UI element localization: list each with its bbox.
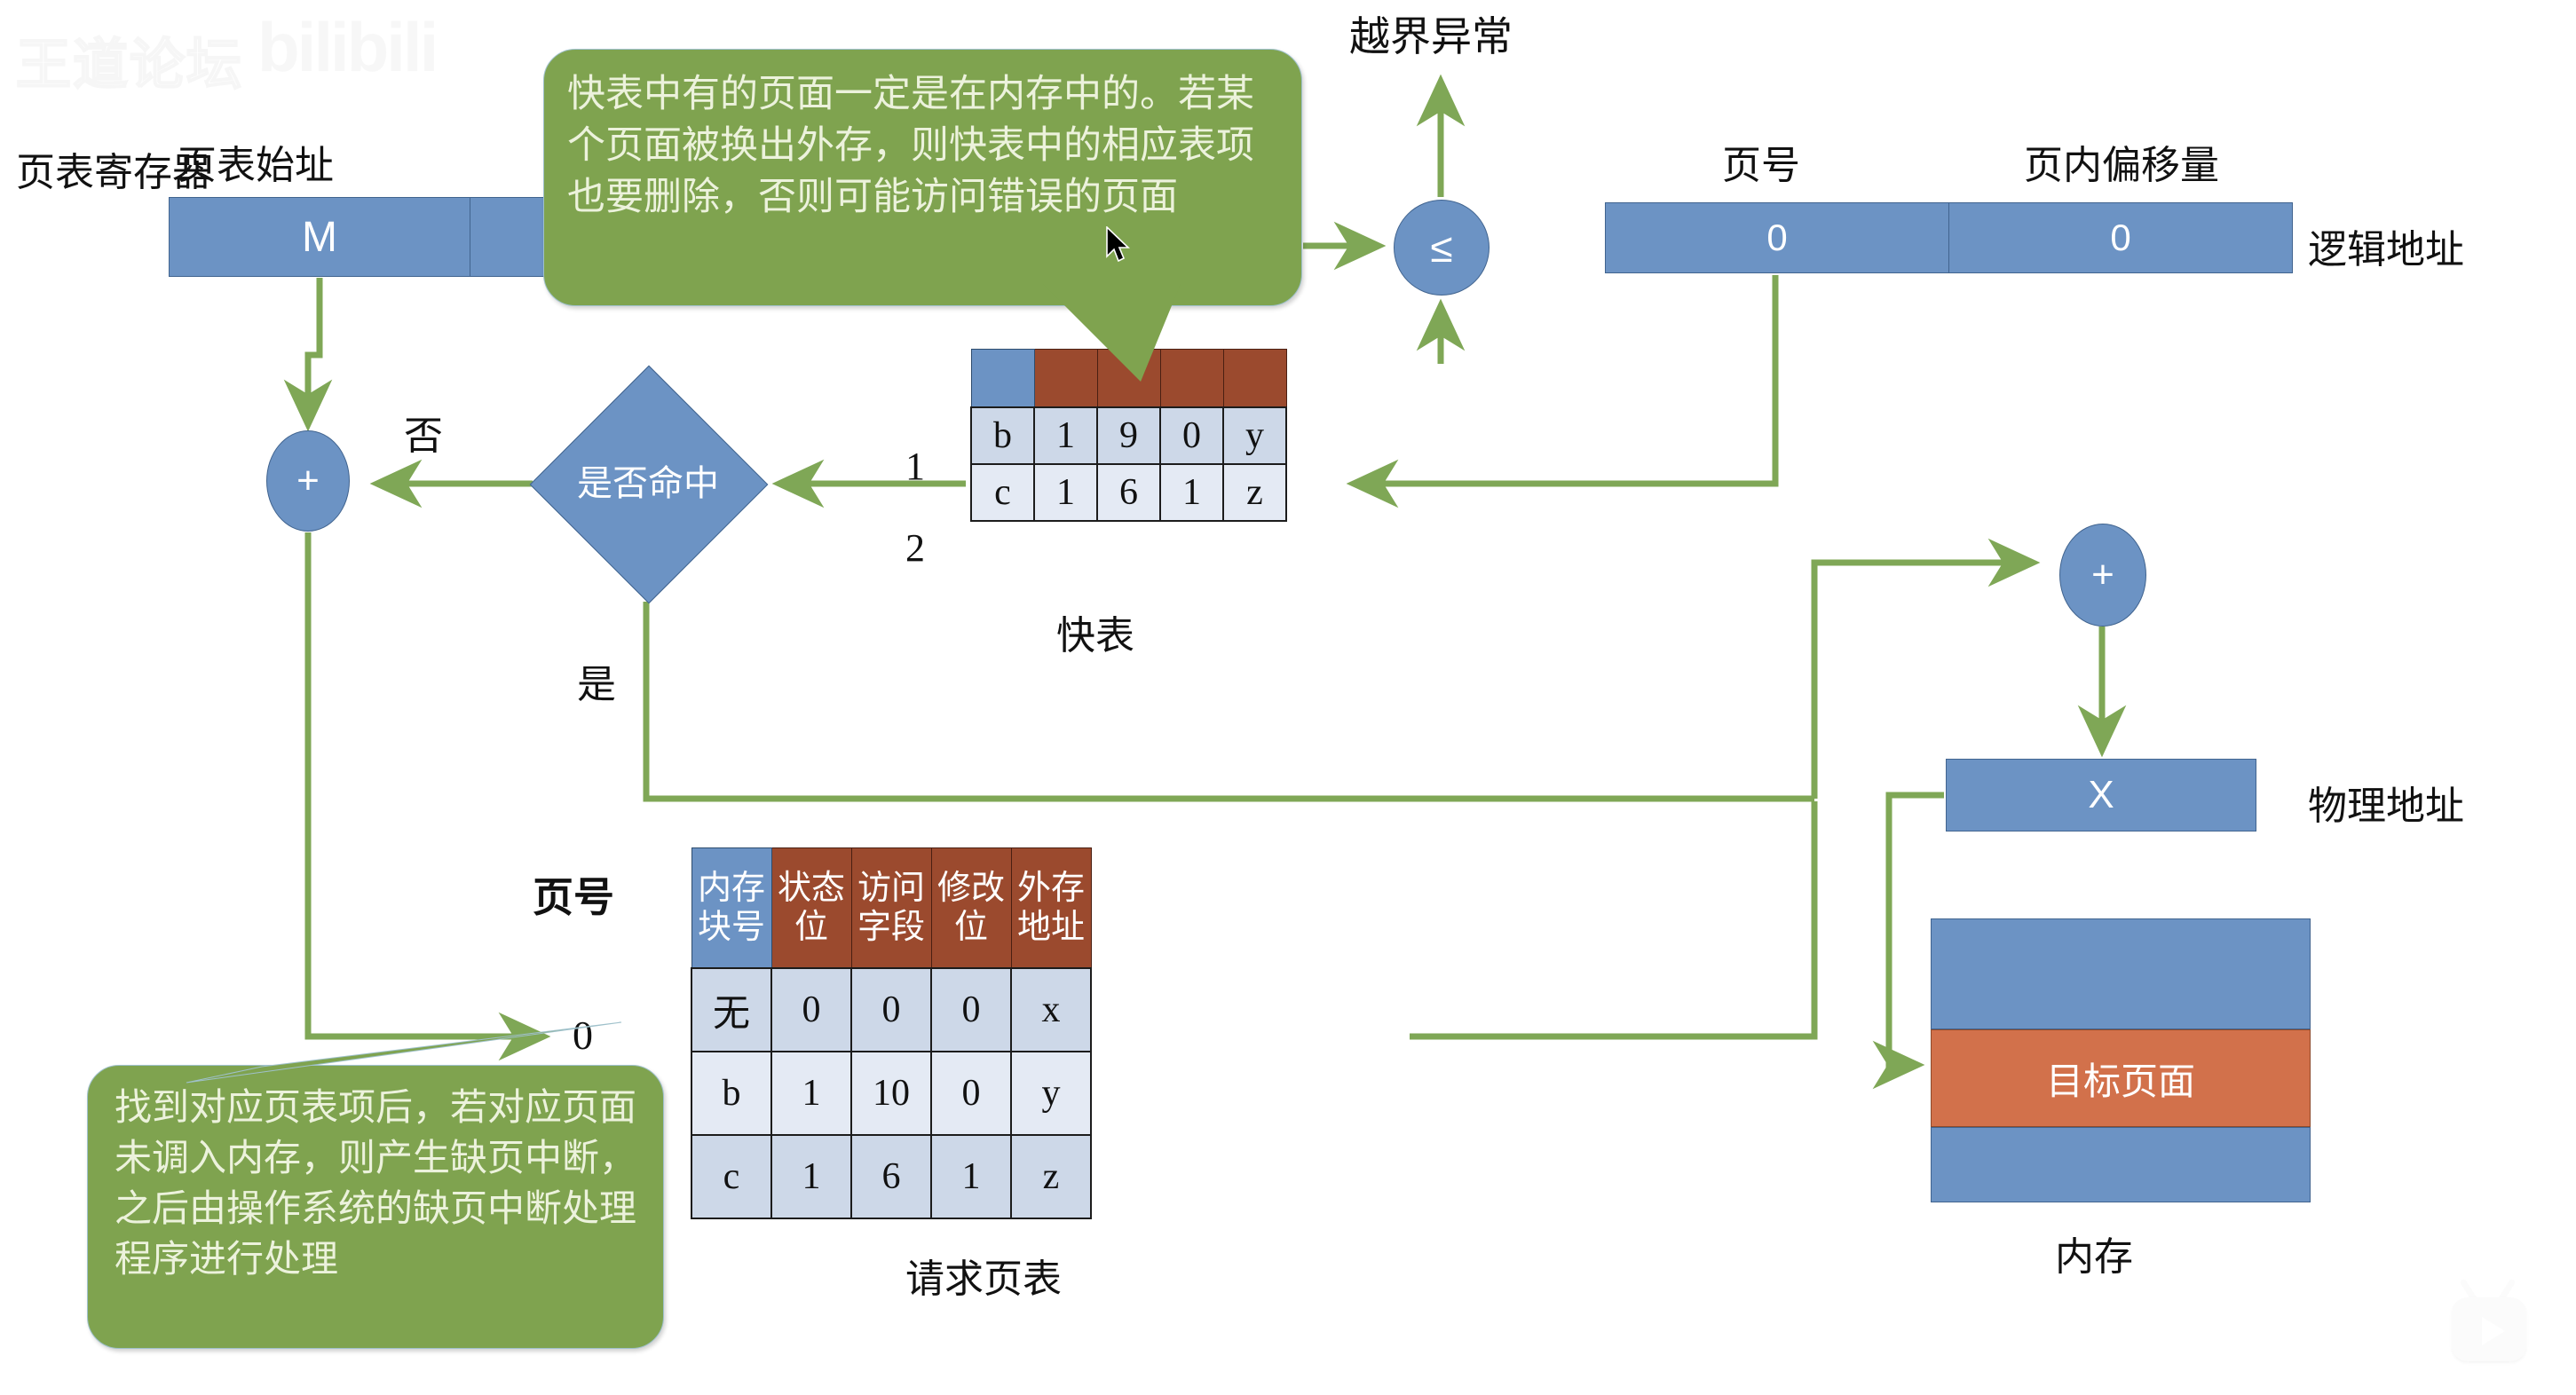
- page-table-cell: y: [1011, 1052, 1091, 1135]
- page-table-cell: 0: [771, 968, 851, 1052]
- callout-tlb-note: 快表中有的页面一定是在内存中的。若某个页面被换出外存，则快表中的相应表项也要删除…: [543, 49, 1302, 306]
- memory-block-lower: [1931, 1127, 2311, 1202]
- page-table-cell: 1: [771, 1052, 851, 1135]
- bilibili-tv-icon: [2439, 1276, 2539, 1370]
- decision-label: 是否命中: [537, 373, 759, 595]
- tlb-cell: 9: [1097, 407, 1160, 464]
- tlb-cell: 1: [1034, 464, 1097, 521]
- tlb-cell: 1: [1034, 407, 1097, 464]
- page-table-header-status-bit: 状态位: [771, 848, 851, 969]
- page-table-cell: 1: [771, 1135, 851, 1218]
- logical-page-no-value: 0: [1605, 202, 1949, 273]
- tlb-cell: b: [971, 407, 1034, 464]
- compare-bounds-circle: ≤: [1394, 200, 1489, 296]
- page-table-cell: 0: [931, 968, 1011, 1052]
- tlb-cell: 6: [1097, 464, 1160, 521]
- page-table-row: c 1 6 1 z: [691, 1135, 1091, 1218]
- logical-offset-value: 0: [1949, 202, 2293, 273]
- page-table-cell: 1: [931, 1135, 1011, 1218]
- adder-right: +: [2059, 524, 2146, 627]
- logical-address-caption: 逻辑地址: [2308, 217, 2464, 274]
- page-table-cell: z: [1011, 1135, 1091, 1218]
- callout-top-tail: [959, 284, 1252, 390]
- watermark-site-text: bilibili: [257, 7, 436, 88]
- memory-target-page: 目标页面: [1931, 1029, 2311, 1127]
- page-table-row: 无 0 0 0 x: [691, 968, 1091, 1052]
- page-table-cell: 0: [931, 1052, 1011, 1135]
- page-table-start-address-label: 页表始址: [178, 133, 334, 190]
- adder-left: +: [266, 430, 350, 532]
- page-table-cell: 6: [851, 1135, 931, 1218]
- physical-address-caption: 物理地址: [2308, 774, 2464, 831]
- logical-address-bar: 0 0: [1605, 202, 2293, 273]
- branch-label-no: 否: [404, 404, 443, 461]
- out-of-bounds-exception-label: 越界异常: [1349, 4, 1513, 63]
- branch-label-yes: 是: [577, 652, 616, 709]
- physical-address-bar: X: [1946, 759, 2256, 831]
- page-table-cell: 无: [691, 968, 771, 1052]
- tlb-cell: 0: [1160, 407, 1223, 464]
- tlb-caption: 快表: [1056, 603, 1134, 660]
- memory-block-diagram: 目标页面: [1931, 918, 2311, 1202]
- tlb-row-number-2: 2: [905, 525, 925, 571]
- page-table-cell: c: [691, 1135, 771, 1218]
- page-table-header-row: 内存块号 状态位 访问字段 修改位 外存地址: [691, 848, 1091, 969]
- tlb-cell: y: [1223, 407, 1286, 464]
- watermark-forum-text: 王道论坛: [16, 20, 243, 99]
- page-table-caption: 请求页表: [905, 1247, 1062, 1304]
- page-table-header-disk-address: 外存地址: [1011, 848, 1091, 969]
- page-table-row: b 1 10 0 y: [691, 1052, 1091, 1135]
- memory-block-upper: [1931, 918, 2311, 1029]
- page-table-cell: x: [1011, 968, 1091, 1052]
- page-table-page-no-label: 页号: [533, 865, 614, 924]
- page-table-header-access-field: 访问字段: [851, 848, 931, 969]
- watermark-top-left: 王道论坛 bilibili: [12, 5, 474, 91]
- decision-tlb-hit: 是否命中: [537, 373, 759, 595]
- play-triangle-icon: [2482, 1317, 2505, 1345]
- mouse-cursor-icon: [1105, 226, 1132, 264]
- page-table-start-address-value: M: [169, 197, 470, 277]
- tlb-row-number-1: 1: [905, 444, 925, 489]
- page-table-header-frame-no: 内存块号: [691, 848, 771, 969]
- tlb-cell: z: [1223, 464, 1286, 521]
- page-table: 内存块号 状态位 访问字段 修改位 外存地址 无 0 0 0 x b 1 10 …: [691, 847, 1092, 1219]
- tlb-cell: c: [971, 464, 1034, 521]
- logical-offset-label: 页内偏移量: [2024, 133, 2219, 190]
- page-table-cell: 10: [851, 1052, 931, 1135]
- logical-page-no-label: 页号: [1722, 133, 1800, 190]
- tlb-row: b 1 9 0 y: [971, 407, 1286, 464]
- tlb-cell: 1: [1160, 464, 1223, 521]
- page-table-cell: b: [691, 1052, 771, 1135]
- page-table-cell: 0: [851, 968, 931, 1052]
- callout-bottom-tail: [160, 1012, 657, 1109]
- memory-caption: 内存: [2055, 1225, 2133, 1281]
- tlb-row: c 1 6 1 z: [971, 464, 1286, 521]
- page-table-register-label: 页表寄存器: [16, 151, 105, 195]
- page-table-header-modify-bit: 修改位: [931, 848, 1011, 969]
